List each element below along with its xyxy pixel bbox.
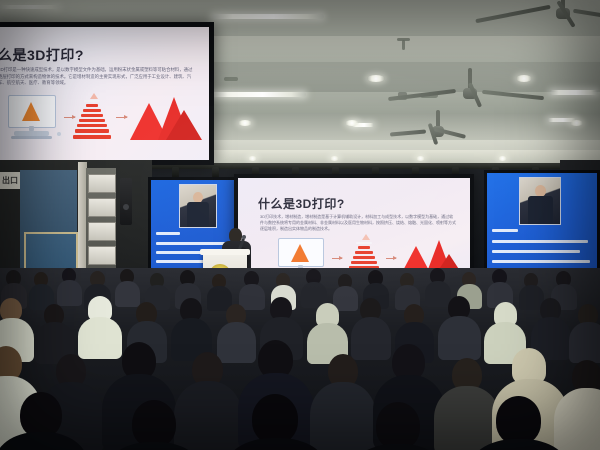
torso <box>438 316 481 360</box>
model-pyramid-orange <box>22 102 40 121</box>
recessed-downlight <box>516 75 532 82</box>
track-spotlight <box>212 167 219 178</box>
speaker-portrait <box>519 177 561 225</box>
sliced-layer <box>83 109 101 112</box>
track-spotlight <box>372 167 379 178</box>
torso <box>217 322 256 363</box>
overhead-projection-screen: 么是3D打印? 3D打印是一种快速成型技术，是以数字模型文件为基础，运用粉末状金… <box>0 27 209 160</box>
led-heading-text <box>492 229 518 232</box>
sliced-layer <box>356 242 372 244</box>
speaker-portrait <box>179 184 217 228</box>
sliced-layer <box>86 104 98 107</box>
torso <box>351 317 391 360</box>
shelf-box <box>88 222 116 241</box>
monitor-indicator <box>57 132 61 136</box>
process-arrow <box>64 117 75 118</box>
fan-blade <box>475 5 550 23</box>
shelf-box <box>88 198 116 217</box>
soffit-downlight <box>498 156 507 161</box>
ceiling-vent <box>224 77 238 81</box>
slice-nozzle <box>362 234 370 240</box>
process-arrow <box>332 258 342 259</box>
track-spotlight <box>412 167 419 178</box>
torso <box>310 382 376 450</box>
fluorescent-tube-light <box>212 14 324 19</box>
torso <box>174 381 242 450</box>
sliced-layer <box>358 246 370 249</box>
process-arrow <box>116 117 127 118</box>
fan-blade <box>573 9 600 20</box>
fluorescent-tube-light <box>0 5 60 9</box>
overhead-slide-title: 么是3D打印? <box>0 45 84 65</box>
head <box>252 394 298 444</box>
lectern-top <box>200 249 250 255</box>
sliced-layer <box>351 261 377 264</box>
fluorescent-tube-light <box>550 90 598 95</box>
ceiling-fan <box>543 0 583 28</box>
soffit-downlight <box>330 156 339 161</box>
sliced-layer <box>79 119 105 122</box>
head <box>376 402 420 450</box>
fan-blade <box>390 129 426 136</box>
sliced-layer <box>81 114 103 117</box>
track-spotlight <box>292 167 299 178</box>
printed-pyramid-object <box>166 110 202 140</box>
model-pyramid-orange <box>291 244 309 262</box>
seated-audience <box>0 268 600 450</box>
ceiling-hook <box>397 38 410 41</box>
torso <box>434 386 500 450</box>
sliced-layer <box>355 251 373 254</box>
recessed-downlight <box>238 120 252 126</box>
recessed-downlight <box>367 75 385 82</box>
sliced-layer <box>84 100 100 102</box>
sliced-layer <box>77 124 107 127</box>
recessed-downlight <box>345 120 359 126</box>
led-body-text <box>492 260 590 263</box>
overhead-slide-body: 3D打印是一种快速成型技术，是以数字模型文件为基础，运用粉末状金属或塑料等可粘合… <box>0 67 196 87</box>
torso <box>569 322 600 363</box>
led-body-text <box>492 250 580 253</box>
process-arrow <box>386 258 396 259</box>
track-spotlight <box>452 167 459 178</box>
head <box>132 400 176 448</box>
slice-nozzle <box>90 93 98 99</box>
exit-sign-text: 出口 <box>2 175 18 186</box>
recessed-downlight <box>570 120 583 126</box>
torso <box>78 317 122 359</box>
fluorescent-tube-light <box>210 92 306 97</box>
shelf-box <box>88 174 116 193</box>
soffit-downlight <box>248 156 257 161</box>
main-slide-body: 3D打印技术，增材制造，增材制造是基于计算机辅助设计，材料加工与成型技术，以数字… <box>260 214 456 232</box>
sliced-layer <box>73 135 111 139</box>
track-spotlight <box>332 167 339 178</box>
ceiling-fan <box>420 110 456 150</box>
soffit-downlight <box>416 156 425 161</box>
ceiling-fan <box>450 68 490 108</box>
portrait-suit <box>528 196 553 224</box>
shelf-box <box>88 246 116 265</box>
3d-printing-process-diagram <box>0 93 198 153</box>
portrait-suit <box>187 202 209 227</box>
led-heading-text <box>156 232 180 235</box>
screenshot-root: 么是3D打印? 3D打印是一种快速成型技术，是以数字模型文件为基础，运用粉末状金… <box>0 0 600 450</box>
track-spotlight <box>172 167 179 178</box>
ceiling-hook <box>402 40 405 50</box>
head <box>496 396 541 445</box>
torso <box>115 281 140 307</box>
printer-bed <box>11 136 52 139</box>
torso <box>57 280 82 306</box>
led-body-text <box>492 240 588 243</box>
sliced-layer <box>75 129 109 133</box>
torso <box>425 281 451 307</box>
microphone-head <box>242 235 246 239</box>
wall-mounted-speaker <box>120 178 132 225</box>
sliced-layer <box>353 256 375 259</box>
main-slide-title: 什么是3D打印? <box>258 195 345 212</box>
track-spotlight <box>252 167 259 178</box>
